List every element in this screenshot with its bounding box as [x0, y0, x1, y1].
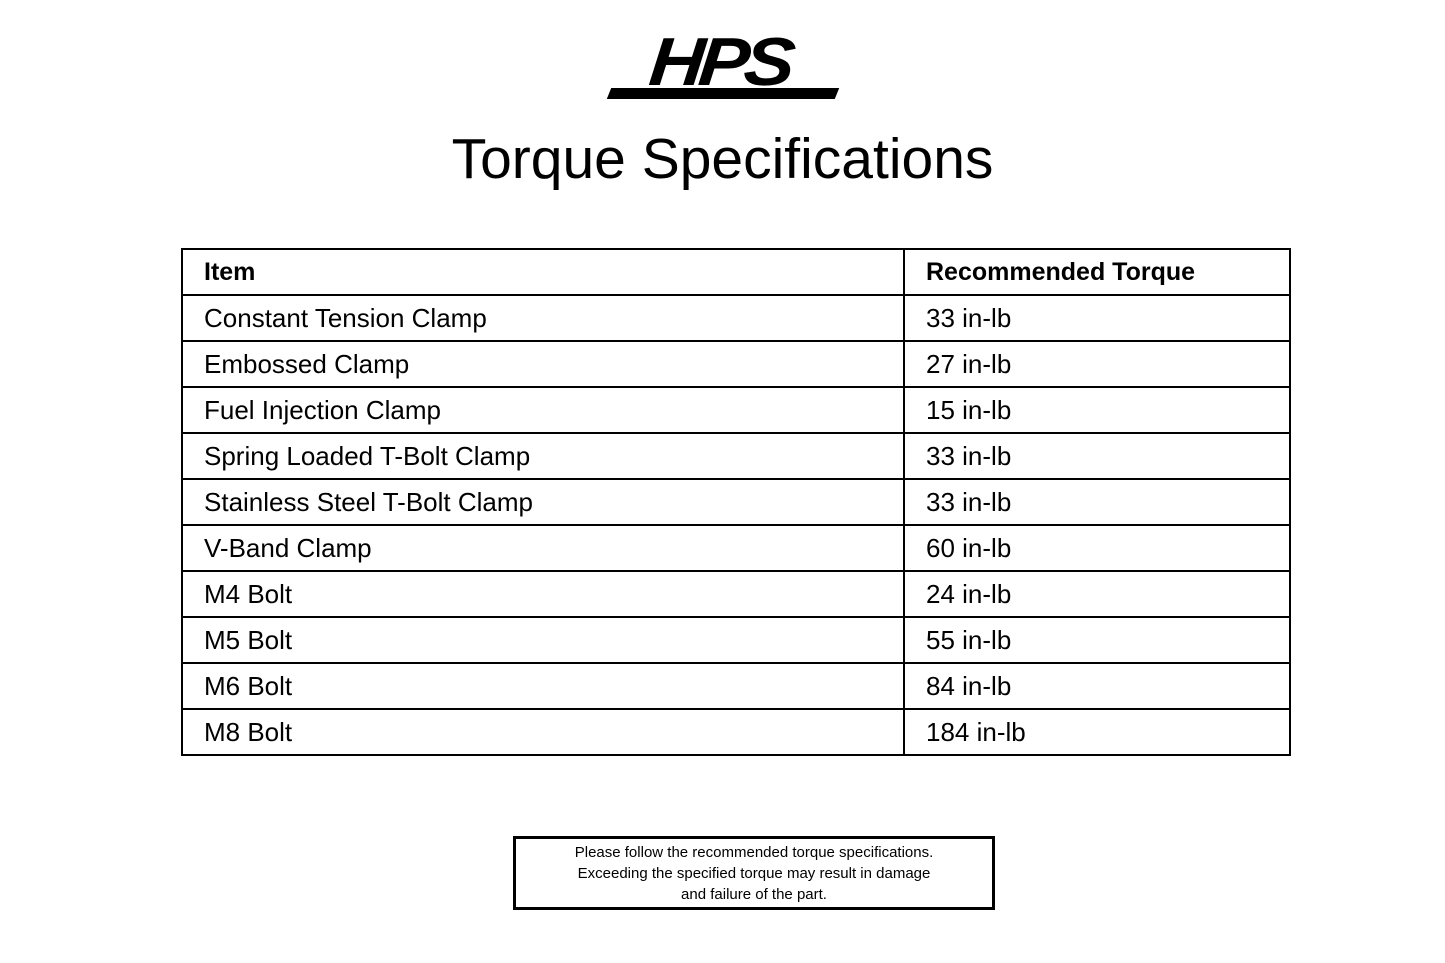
hps-wordmark-logo: HPS: [603, 30, 843, 108]
cell-item: M8 Bolt: [182, 709, 904, 755]
cell-item: V-Band Clamp: [182, 525, 904, 571]
table-row: M6 Bolt 84 in-lb: [182, 663, 1290, 709]
cell-torque: 24 in-lb: [904, 571, 1290, 617]
table-header-row: Item Recommended Torque: [182, 249, 1290, 295]
cell-item: Stainless Steel T-Bolt Clamp: [182, 479, 904, 525]
warning-note-box: Please follow the recommended torque spe…: [513, 836, 995, 910]
table-row: Embossed Clamp 27 in-lb: [182, 341, 1290, 387]
cell-item: Constant Tension Clamp: [182, 295, 904, 341]
cell-item: Embossed Clamp: [182, 341, 904, 387]
note-line: Exceeding the specified torque may resul…: [578, 863, 931, 884]
cell-torque: 15 in-lb: [904, 387, 1290, 433]
table-row: Fuel Injection Clamp 15 in-lb: [182, 387, 1290, 433]
table-row: M5 Bolt 55 in-lb: [182, 617, 1290, 663]
table-row: V-Band Clamp 60 in-lb: [182, 525, 1290, 571]
page-title: Torque Specifications: [0, 128, 1445, 191]
hps-logo-underline-bar: [606, 88, 838, 99]
cell-item: Spring Loaded T-Bolt Clamp: [182, 433, 904, 479]
table-row: Constant Tension Clamp 33 in-lb: [182, 295, 1290, 341]
table-row: Stainless Steel T-Bolt Clamp 33 in-lb: [182, 479, 1290, 525]
brand-logo: HPS: [0, 30, 1445, 110]
table-row: Spring Loaded T-Bolt Clamp 33 in-lb: [182, 433, 1290, 479]
cell-torque: 84 in-lb: [904, 663, 1290, 709]
cell-item: M4 Bolt: [182, 571, 904, 617]
torque-specifications-table: Item Recommended Torque Constant Tension…: [181, 248, 1291, 756]
note-line: and failure of the part.: [681, 884, 827, 905]
cell-item: M6 Bolt: [182, 663, 904, 709]
cell-torque: 27 in-lb: [904, 341, 1290, 387]
column-header-recommended-torque: Recommended Torque: [904, 249, 1290, 295]
column-header-item: Item: [182, 249, 904, 295]
table-header: Item Recommended Torque: [182, 249, 1290, 295]
hps-logo-text: HPS: [581, 28, 856, 96]
table-body: Constant Tension Clamp 33 in-lb Embossed…: [182, 295, 1290, 755]
cell-item: M5 Bolt: [182, 617, 904, 663]
table-row: M4 Bolt 24 in-lb: [182, 571, 1290, 617]
table-row: M8 Bolt 184 in-lb: [182, 709, 1290, 755]
cell-torque: 55 in-lb: [904, 617, 1290, 663]
cell-torque: 33 in-lb: [904, 295, 1290, 341]
cell-torque: 33 in-lb: [904, 433, 1290, 479]
cell-torque: 33 in-lb: [904, 479, 1290, 525]
note-line: Please follow the recommended torque spe…: [575, 842, 934, 863]
cell-torque: 184 in-lb: [904, 709, 1290, 755]
cell-item: Fuel Injection Clamp: [182, 387, 904, 433]
cell-torque: 60 in-lb: [904, 525, 1290, 571]
